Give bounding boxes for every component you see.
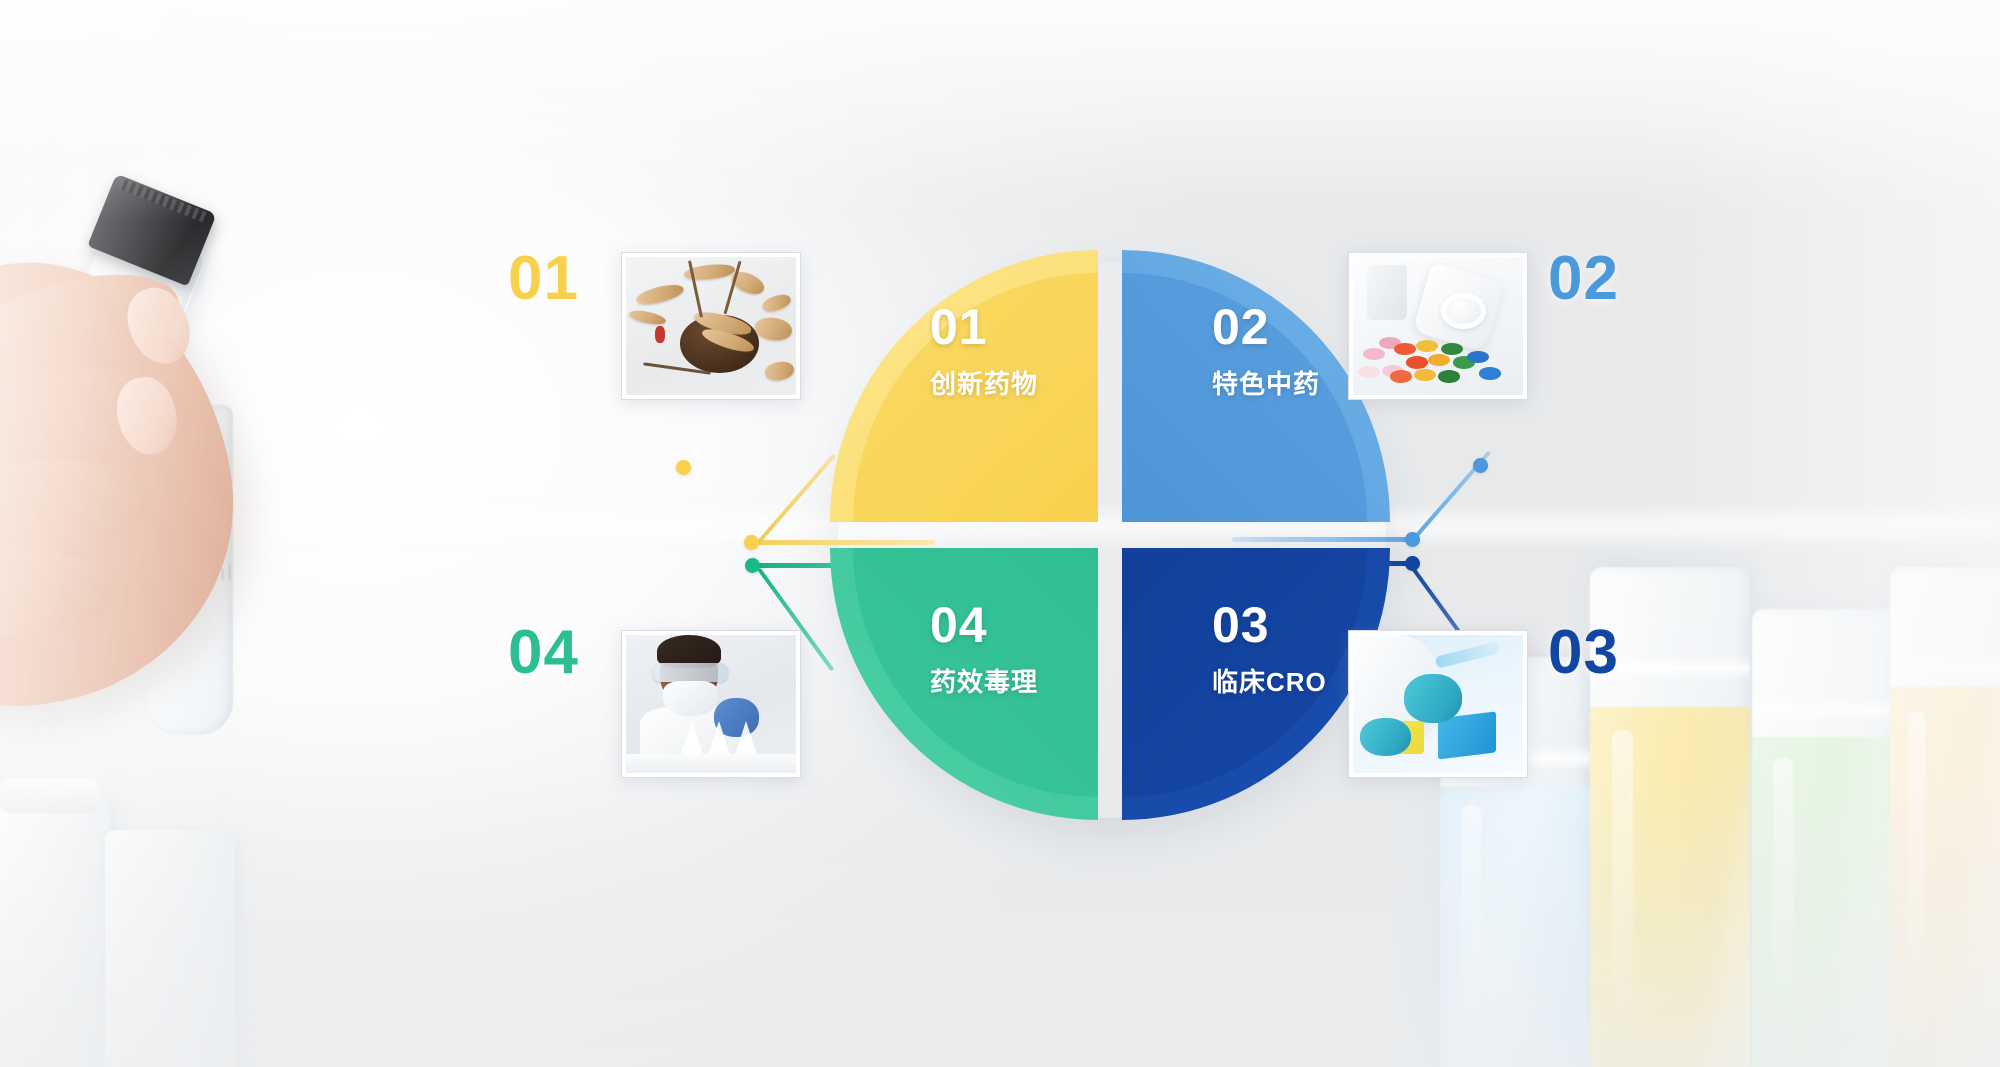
segment-03-label: 03 临床CRO [1212, 600, 1327, 699]
segment-01-number: 01 [930, 302, 1038, 352]
segment-02-title: 特色中药 [1212, 364, 1320, 401]
segment-01-title: 创新药物 [930, 364, 1038, 401]
segments-diagram: 01 创新药物 02 特色中药 03 临床CRO 04 药效毒理 01 02 0… [0, 0, 2000, 1067]
connector-01-node-outer [676, 460, 691, 475]
pills-photo [1353, 257, 1523, 395]
connector-01-node-inner [744, 535, 759, 550]
thumbnail-02[interactable] [1348, 252, 1528, 400]
thumbnail-04[interactable] [621, 630, 801, 778]
clinical-lab-photo [1353, 635, 1523, 773]
segment-04-label: 04 药效毒理 [930, 600, 1038, 699]
segment-02-number: 02 [1212, 302, 1320, 352]
connector-02-node-outer [1473, 458, 1488, 473]
herbal-medicine-photo [626, 257, 796, 395]
connector-04-node-inner [745, 558, 760, 573]
outer-number-04: 04 [508, 617, 579, 688]
connector-02-node-inner [1405, 532, 1420, 547]
toxicology-lab-photo [626, 635, 796, 773]
outer-number-01: 01 [508, 243, 579, 314]
segment-01-label: 01 创新药物 [930, 302, 1038, 401]
thumbnail-03[interactable] [1348, 630, 1528, 778]
segment-02-label: 02 特色中药 [1212, 302, 1320, 401]
outer-number-02: 02 [1548, 243, 1619, 314]
thumbnail-01[interactable] [621, 252, 801, 400]
segment-04-title: 药效毒理 [930, 662, 1038, 699]
segment-03-number: 03 [1212, 600, 1327, 650]
segment-03-title: 临床CRO [1212, 662, 1327, 699]
connector-03-node-inner [1405, 556, 1420, 571]
connector-01-diagonal [755, 454, 835, 546]
segment-04-number: 04 [930, 600, 1038, 650]
quadrant-wheel: 01 创新药物 02 特色中药 03 临床CRO 04 药效毒理 [830, 250, 1390, 820]
outer-number-03: 03 [1548, 617, 1619, 688]
